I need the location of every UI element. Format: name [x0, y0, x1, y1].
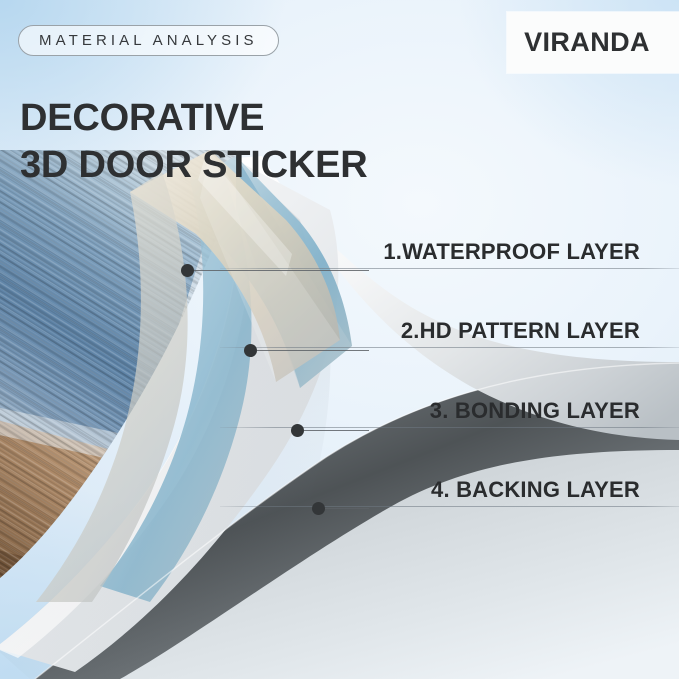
callout-label-2: 2.HD PATTERN LAYER: [220, 318, 640, 344]
page-title-line-2: 3D DOOR STICKER: [20, 142, 540, 189]
callout-layer-2: 2.HD PATTERN LAYER: [220, 318, 640, 348]
callout-label-4: 4. BACKING LAYER: [220, 477, 640, 503]
leader-line-1: [194, 270, 369, 271]
callout-layer-3: 3. BONDING LAYER: [220, 398, 640, 428]
callout-layer-4: 4. BACKING LAYER: [220, 477, 640, 507]
page-title-line-1: DECORATIVE: [20, 97, 264, 139]
marker-dot-1: [181, 264, 194, 277]
brand-logo-text: VIRANDA: [507, 12, 667, 73]
leader-line-3: [304, 430, 369, 431]
callout-rule-2: [220, 347, 679, 348]
poster-canvas: MATERIAL ANALYSIS DECORATIVE 3D DOOR STI…: [0, 0, 679, 679]
callout-rule-3: [220, 427, 679, 428]
leader-line-4: [325, 508, 369, 509]
eyebrow-badge: MATERIAL ANALYSIS: [18, 25, 279, 56]
callout-rule-1: [220, 268, 679, 269]
brand-plate: VIRANDA: [507, 12, 679, 73]
marker-dot-3: [291, 424, 304, 437]
marker-dot-4: [312, 502, 325, 515]
leader-line-2: [257, 350, 369, 351]
callout-label-3: 3. BONDING LAYER: [220, 398, 640, 424]
callout-layer-1: 1.WATERPROOF LAYER: [220, 239, 640, 269]
callout-label-1: 1.WATERPROOF LAYER: [220, 239, 640, 265]
marker-dot-2: [244, 344, 257, 357]
page-title: DECORATIVE 3D DOOR STICKER: [20, 95, 540, 189]
callout-rule-4: [220, 506, 679, 507]
eyebrow-text: MATERIAL ANALYSIS: [39, 32, 258, 49]
